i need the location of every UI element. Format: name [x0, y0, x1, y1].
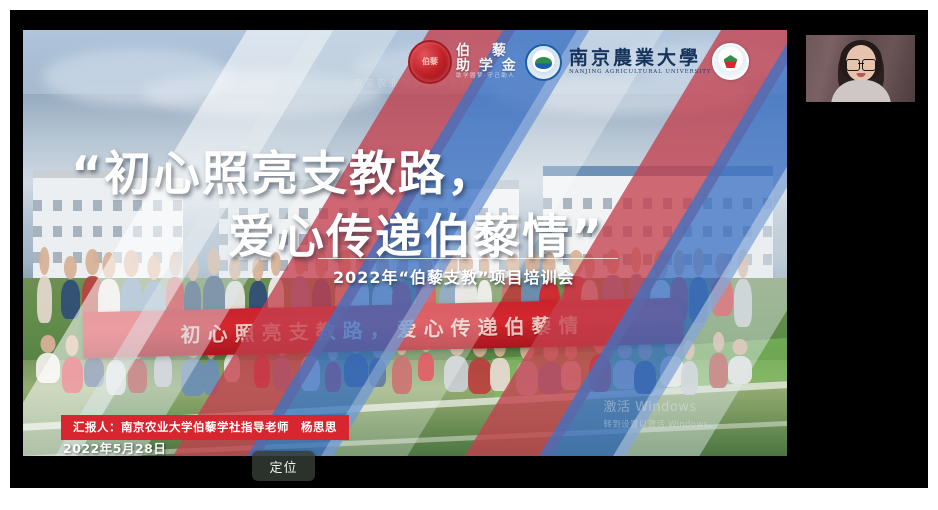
subtitle-rule [318, 258, 618, 259]
presentation-slide[interactable]: [] 初心照亮支教路，爱心传递伯藜情 南京农业大学伯藜学社 伯 [23, 30, 787, 456]
boli-logo-line1: 伯 藜 [456, 44, 518, 59]
nau-logo: 南京農業大學 NANJING AGRICULTURAL UNIVERSITY [525, 44, 711, 81]
nau-emblem-icon [525, 44, 562, 81]
presenter-badge: 汇报人：南京农业大学伯藜学社指导老师 杨思思 [61, 415, 349, 440]
crowd-person [734, 279, 752, 327]
crowd-person [728, 356, 752, 384]
webcam-feed [806, 35, 915, 102]
crowd-person [538, 362, 563, 394]
crowd-person [468, 358, 493, 394]
crowd-person [300, 356, 320, 391]
nau-name-cn: 南京農業大學 [569, 49, 711, 68]
crowd-person [490, 358, 510, 391]
crowd-person [61, 280, 81, 319]
screen: [] 初心照亮支教路，爱心传递伯藜情 南京农业大学伯藜学社 伯 [0, 0, 938, 510]
crowd-person [561, 361, 580, 390]
crowd-person [84, 357, 104, 387]
crowd-person [62, 357, 83, 393]
crowd-person [689, 277, 708, 323]
eyeglasses-icon [846, 59, 876, 69]
crowd-person [224, 353, 240, 382]
crowd-person [36, 353, 60, 383]
crowd-person [106, 360, 127, 396]
slide-title-line-2: 爱心传递伯藜情” [228, 198, 604, 267]
nau-name-en: NANJING AGRICULTURAL UNIVERSITY [569, 70, 711, 76]
crowd-person [634, 361, 656, 394]
crowd-person [681, 361, 699, 395]
crowd-person [344, 354, 368, 387]
crowd-person [711, 277, 733, 316]
crowd-person [254, 354, 270, 388]
crowd-person [392, 356, 412, 394]
crowd-person [589, 354, 612, 392]
slide-title-line-1: “初心照亮支教路， [71, 135, 496, 204]
boli-society-emblem-icon [712, 43, 749, 80]
boli-logo-line2: 助 学 金 [456, 59, 518, 74]
crowd-person [181, 359, 204, 396]
locate-button[interactable]: 定位 [252, 451, 315, 481]
logo-row: 伯藜 伯 藜 助 学 金 助学圆梦·守己助人 南京農業大學 NANJING AG… [23, 34, 787, 92]
crowd-person [369, 358, 387, 387]
crowd-person [128, 359, 147, 392]
crowd-person [203, 359, 219, 395]
boli-logo-line3: 助学圆梦·守己助人 [456, 74, 518, 80]
crowd-person [613, 360, 636, 389]
crowd-person [444, 356, 468, 392]
participant-video-column [793, 10, 928, 488]
crowd-person [273, 357, 291, 392]
slide-subtitle: 2022年“伯藜支教”项目培训会 [333, 264, 575, 288]
crowd-person [325, 362, 342, 392]
crowd-person [154, 353, 172, 388]
participant-video-tile[interactable] [793, 19, 928, 119]
shared-screen-panel[interactable]: [] 初心照亮支教路，爱心传递伯藜情 南京农业大学伯藜学社 伯 [23, 19, 787, 479]
event-banner-text: 初心照亮支教路，爱心传递伯藜情 [83, 307, 684, 351]
boli-seal-label: 伯藜 [422, 58, 438, 66]
crowd-person [516, 361, 538, 395]
boli-seal-icon: 伯藜 [408, 40, 452, 84]
crowd-person [418, 353, 434, 381]
boli-scholarship-logo: 伯藜 伯 藜 助 学 金 助学圆梦·守己助人 [408, 40, 518, 84]
crowd-person [709, 353, 728, 388]
slide-date: 2022年5月28日 [63, 438, 166, 456]
empty-video-tiles-area [793, 119, 928, 488]
crowd-person [37, 276, 52, 323]
